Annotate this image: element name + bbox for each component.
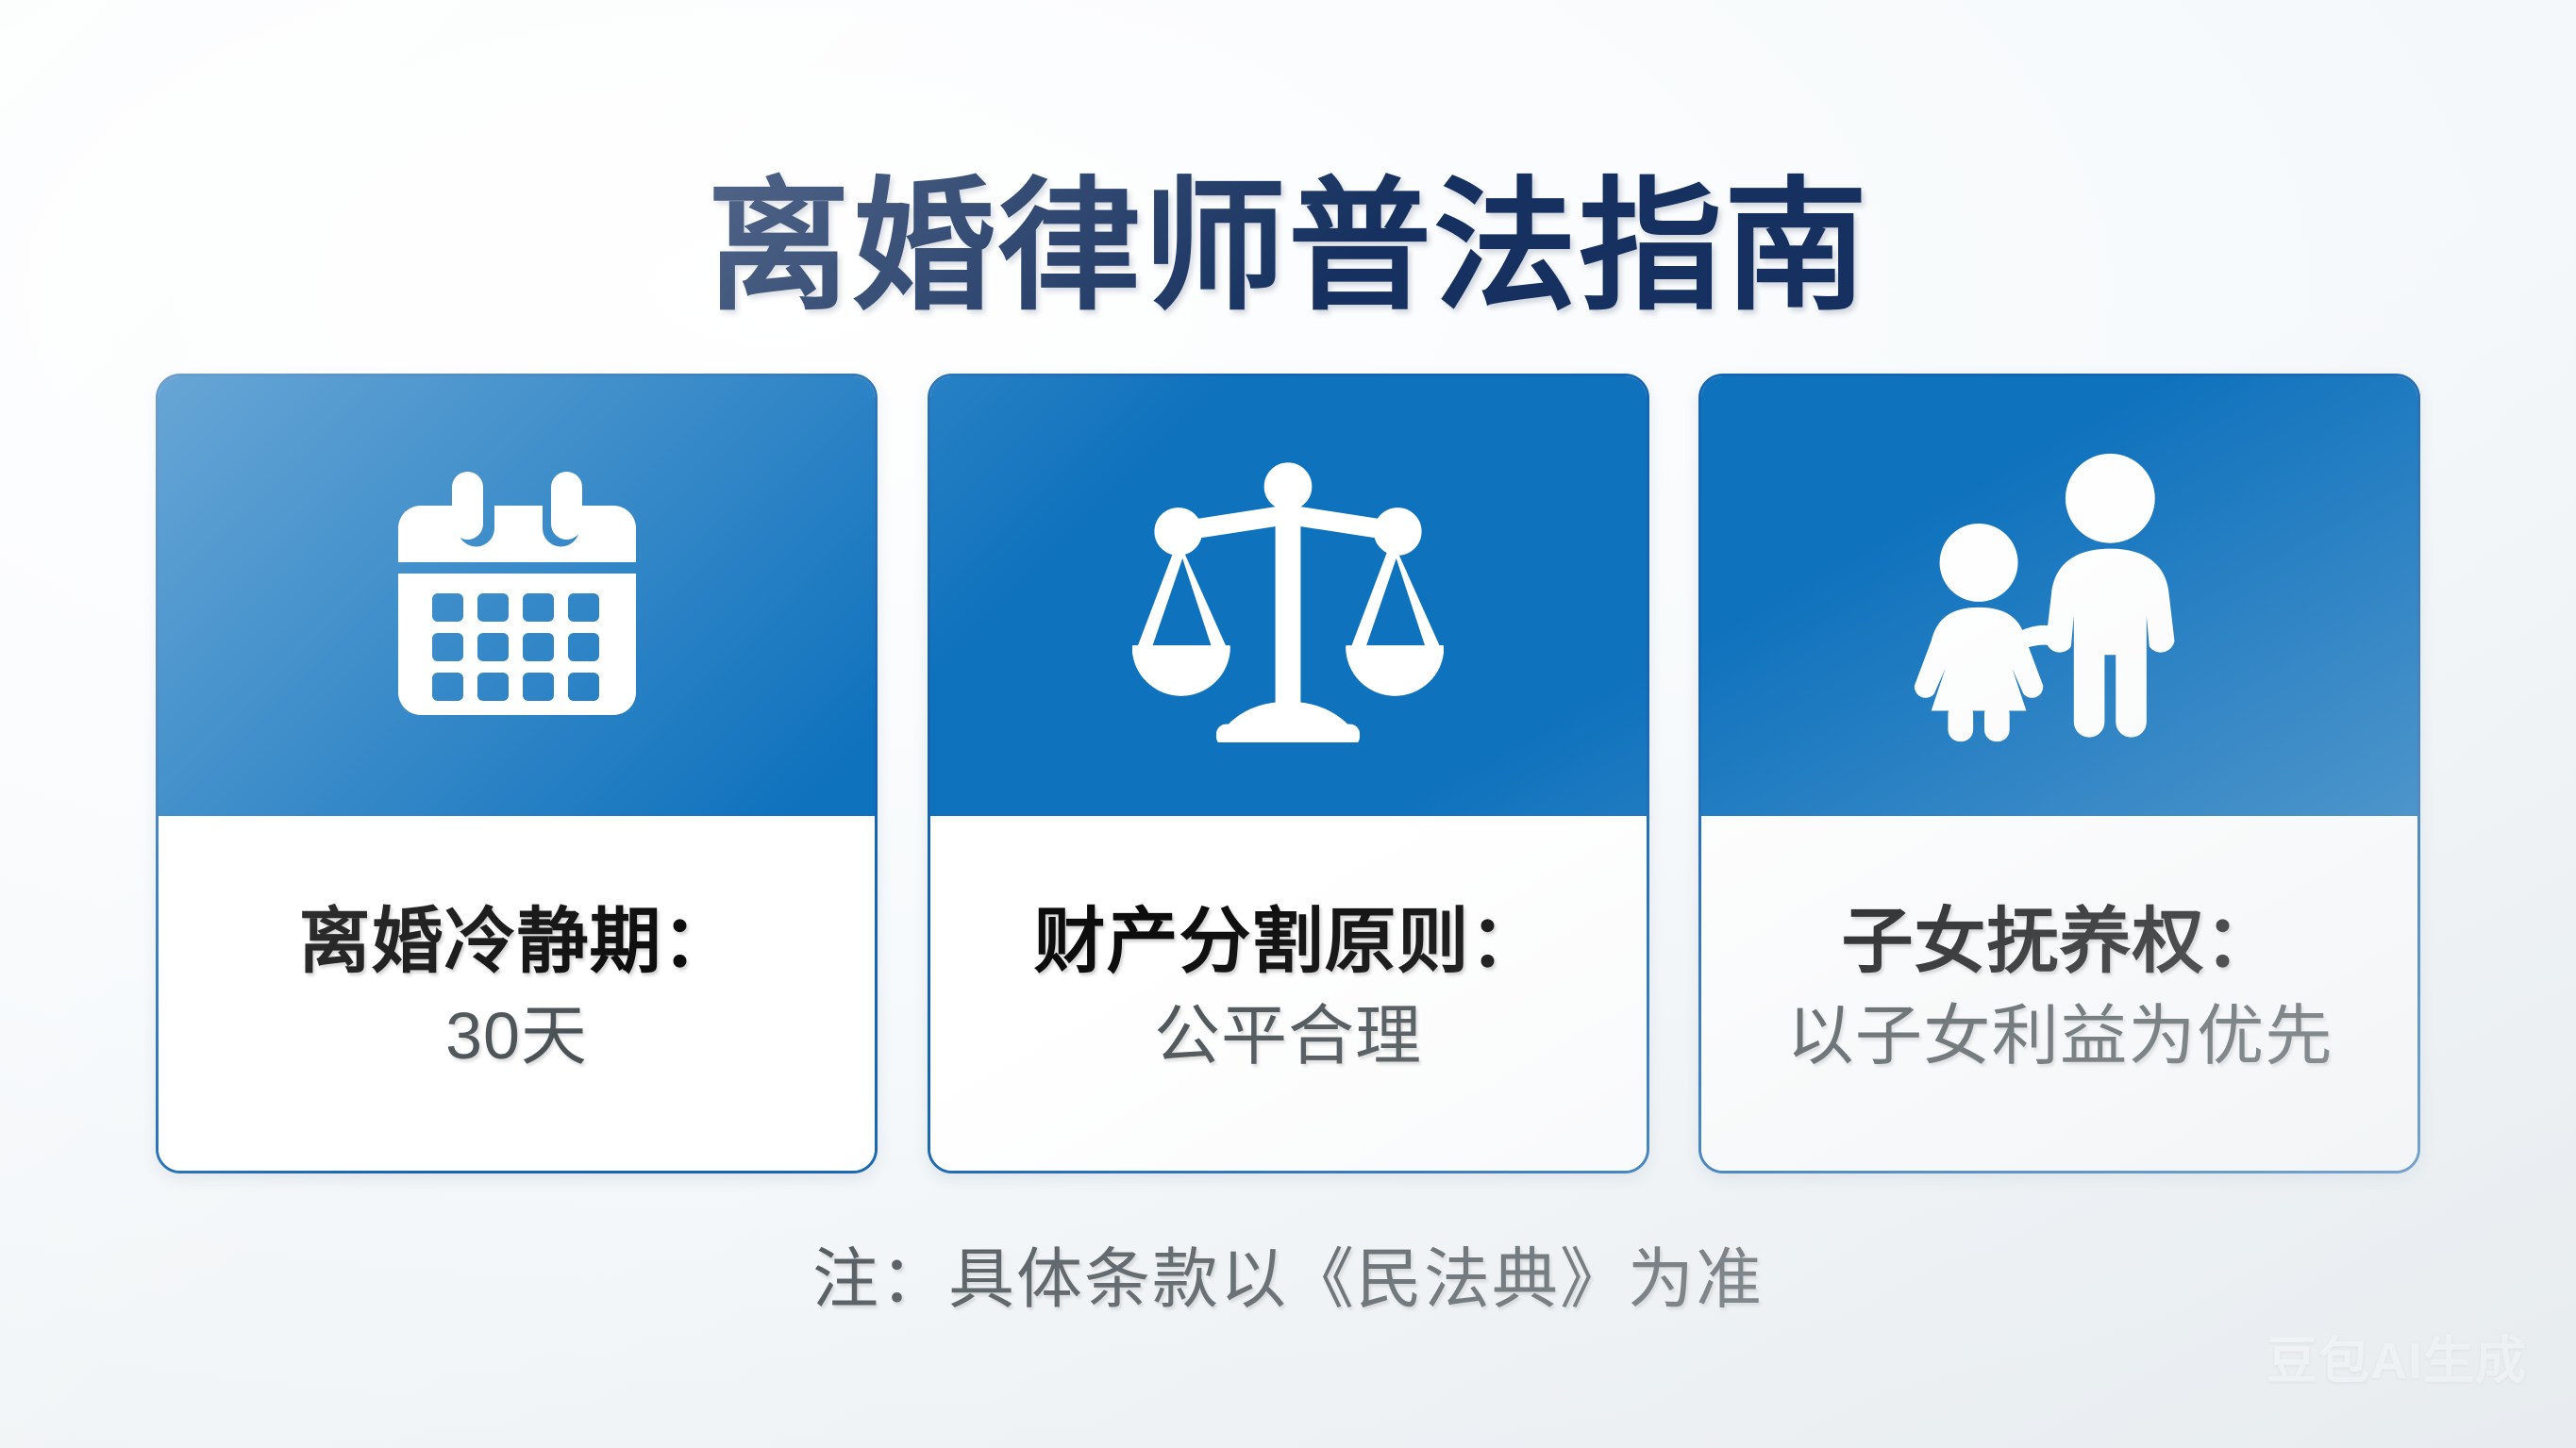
card-title: 离婚冷静期： bbox=[299, 902, 735, 984]
card-icon-area bbox=[930, 376, 1647, 816]
card-title: 子女抚养权： bbox=[1842, 902, 2278, 984]
card-property-division[interactable]: 财产分割原则： 公平合理 bbox=[928, 374, 1649, 1173]
footnote-text: 注：具体条款以《民法典》为准 bbox=[0, 1226, 2576, 1322]
card-subtitle: 30天 bbox=[445, 999, 588, 1073]
card-icon-area bbox=[1701, 376, 2417, 816]
card-subtitle: 公平合理 bbox=[1154, 999, 1422, 1073]
card-icon-area bbox=[159, 376, 875, 816]
calendar-icon bbox=[376, 455, 659, 738]
card-cooling-off-period[interactable]: 离婚冷静期： 30天 bbox=[156, 374, 878, 1173]
parent-and-child-icon bbox=[1909, 450, 2211, 742]
balance-scales-icon bbox=[1132, 450, 1444, 742]
card-text-area: 财产分割原则： 公平合理 bbox=[930, 816, 1647, 1171]
card-text-area: 子女抚养权： 以子女利益为优先 bbox=[1701, 816, 2417, 1171]
card-row: 离婚冷静期： 30天 bbox=[156, 374, 2420, 1173]
page-title: 离婚律师普法指南 bbox=[0, 170, 2576, 325]
card-child-custody[interactable]: 子女抚养权： 以子女利益为优先 bbox=[1698, 374, 2420, 1173]
poster-canvas: 离婚律师普法指南 bbox=[0, 0, 2576, 1448]
card-title: 财产分割原则： bbox=[1034, 902, 1543, 984]
watermark-label: 豆包AI生成 bbox=[2267, 1319, 2527, 1393]
card-text-area: 离婚冷静期： 30天 bbox=[159, 816, 875, 1171]
card-subtitle: 以子女利益为优先 bbox=[1786, 999, 2333, 1073]
